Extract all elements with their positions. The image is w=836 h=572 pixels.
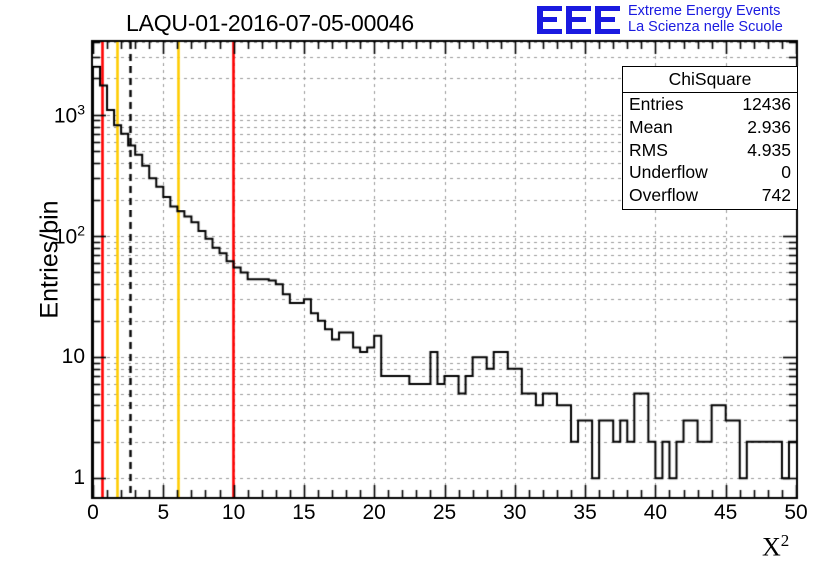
- eee-logo-text: Extreme Energy Events La Scienza nelle S…: [628, 4, 783, 35]
- stats-row-value: 4.935: [747, 139, 791, 162]
- stats-row-value: 0: [781, 161, 791, 184]
- x-tick-label: 15: [292, 501, 315, 525]
- stats-row-key: Underflow: [629, 161, 708, 184]
- x-tick-label: 0: [87, 501, 99, 525]
- stats-row: Underflow0: [623, 161, 797, 184]
- stats-row: Overflow742: [623, 184, 797, 207]
- x-tick-label: 20: [363, 501, 386, 525]
- x-axis-title-exponent: 2: [781, 531, 790, 550]
- x-tick-label: 5: [157, 501, 169, 525]
- stats-box-title: ChiSquare: [623, 68, 797, 93]
- stats-row-value: 2.936: [747, 116, 791, 139]
- eee-logo-line2: La Scienza nelle Scuole: [628, 20, 783, 36]
- x-tick-label: 25: [433, 501, 456, 525]
- y-axis-title: Entries/bin: [36, 60, 65, 460]
- x-tick-label: 30: [503, 501, 526, 525]
- page-title: LAQU-01-2016-07-05-00046: [0, 10, 540, 37]
- stats-box: ChiSquare Entries12436Mean2.936RMS4.935U…: [622, 66, 798, 210]
- stats-row-key: Mean: [629, 116, 673, 139]
- x-tick-label: 35: [573, 501, 596, 525]
- x-axis-title: X2: [762, 531, 789, 563]
- stats-box-rows: Entries12436Mean2.936RMS4.935Underflow0O…: [623, 93, 797, 207]
- stats-row-key: Entries: [629, 93, 683, 116]
- eee-logo-mark-icon: [536, 4, 622, 36]
- eee-logo-line1: Extreme Energy Events: [628, 4, 783, 20]
- x-tick-label: 45: [714, 501, 737, 525]
- x-tick-label: 10: [222, 501, 245, 525]
- stats-row: Entries12436: [623, 93, 797, 116]
- x-axis-title-base: X: [762, 533, 781, 562]
- x-tick-label: 50: [784, 501, 807, 525]
- eee-logo: Extreme Energy Events La Scienza nelle S…: [536, 2, 836, 38]
- x-tick-label: 40: [644, 501, 667, 525]
- stats-row-key: RMS: [629, 139, 668, 162]
- stats-row: Mean2.936: [623, 116, 797, 139]
- stats-row: RMS4.935: [623, 139, 797, 162]
- stats-row-value: 742: [762, 184, 791, 207]
- stats-row-value: 12436: [742, 93, 791, 116]
- stats-row-key: Overflow: [629, 184, 698, 207]
